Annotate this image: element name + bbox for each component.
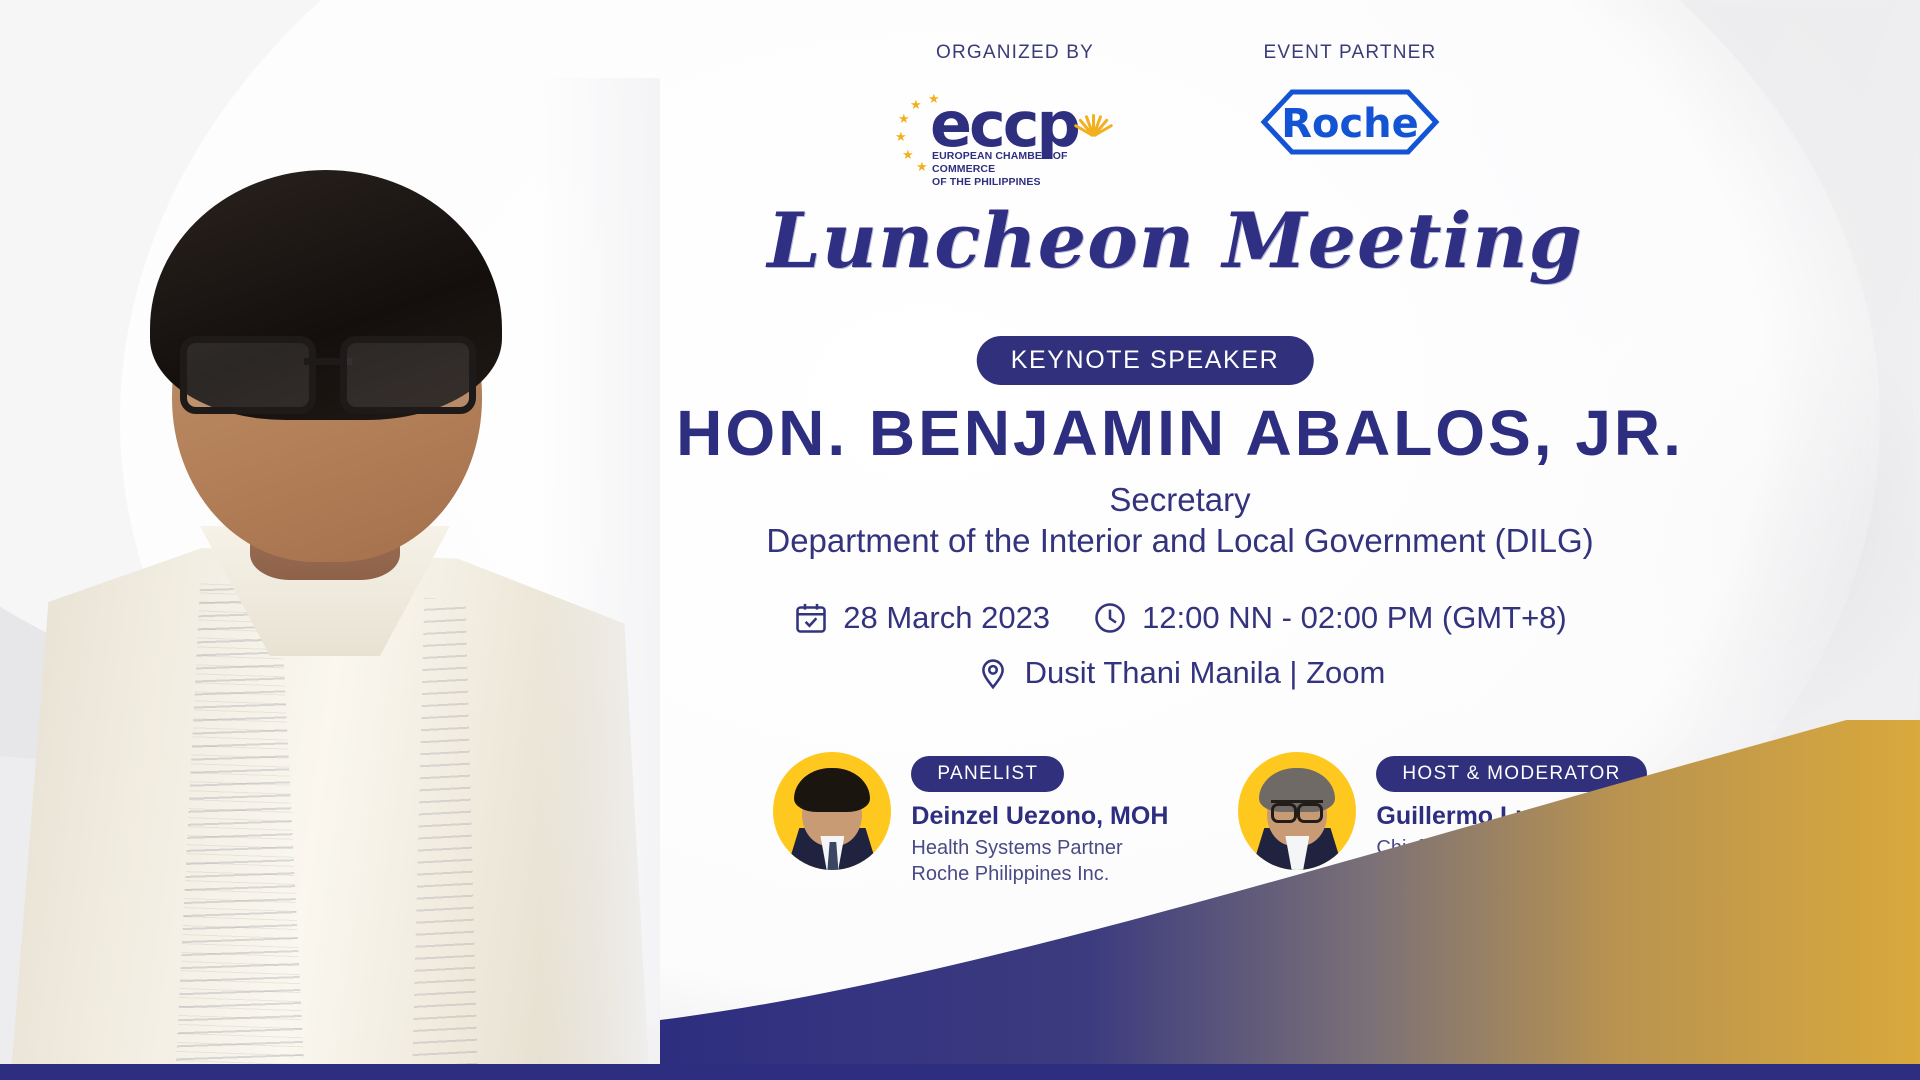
roche-wordmark: Roche — [1281, 101, 1419, 147]
eu-star: ★ — [902, 148, 914, 161]
eu-star: ★ — [898, 112, 910, 125]
eu-star: ★ — [916, 160, 928, 173]
eu-star: ★ — [910, 98, 922, 111]
lens-left — [180, 336, 316, 414]
sun-rays-icon — [1068, 88, 1120, 146]
person-description: Health Systems Partner Roche Philippines… — [911, 835, 1168, 887]
event-date: 28 March 2023 — [843, 600, 1050, 636]
date-item: 28 March 2023 — [793, 600, 1050, 636]
keynote-speaker-name: HON. BENJAMIN ABALOS, JR. — [460, 396, 1900, 470]
person-card: HOST & MODERATOR Guillermo Luz Chief Res… — [1238, 752, 1706, 913]
avatar — [1238, 752, 1356, 870]
person-name: Guillermo Luz — [1376, 802, 1706, 832]
organized-by-label: ORGANIZED BY — [900, 42, 1130, 64]
lens-right — [340, 336, 476, 414]
venue-item: Dusit Thani Manila | Zoom — [975, 655, 1386, 691]
eccp-tagline: EUROPEAN CHAMBER OF COMMERCE OF THE PHIL… — [932, 150, 1130, 188]
speakers-row: PANELIST Deinzel Uezono, MOH Health Syst… — [580, 752, 1900, 913]
keynote-speaker-role: Secretary — [460, 478, 1900, 522]
avatar-lens-right — [1297, 803, 1323, 823]
person-info: PANELIST Deinzel Uezono, MOH Health Syst… — [911, 752, 1168, 887]
calendar-check-icon — [793, 600, 829, 636]
person-role-badge: HOST & MODERATOR — [1376, 756, 1646, 792]
keynote-speaker-badge: KEYNOTE SPEAKER — [977, 336, 1314, 385]
keynote-speaker-photo — [0, 78, 660, 1080]
person-card: PANELIST Deinzel Uezono, MOH Health Syst… — [773, 752, 1168, 913]
partner-logo-row: ORGANIZED BY ★ ★ ★ ★ ★ ★ eccp — [660, 42, 1690, 178]
time-item: 12:00 NN - 02:00 PM (GMT+8) — [1092, 600, 1567, 636]
avatar-face — [1251, 766, 1343, 870]
roche-hexagon-icon: Roche — [1260, 86, 1440, 158]
venue-row: Dusit Thani Manila | Zoom — [460, 655, 1900, 691]
avatar — [773, 752, 891, 870]
person-name: Deinzel Uezono, MOH — [911, 802, 1168, 832]
person-description: Chief Resilience Officer, Philippine Dis… — [1376, 835, 1706, 913]
roche-logo: Roche — [1250, 86, 1450, 178]
eyeglasses-icon — [178, 336, 478, 402]
organizer-block: ORGANIZED BY ★ ★ ★ ★ ★ ★ eccp — [900, 42, 1130, 178]
photo-edge-fade — [540, 78, 660, 1080]
person-role-badge: PANELIST — [911, 756, 1064, 792]
avatar-hair — [794, 768, 870, 812]
page-title: Luncheon Meeting — [660, 196, 1690, 285]
location-pin-icon — [975, 655, 1011, 691]
avatar-lens-left — [1271, 803, 1297, 823]
eccp-logo: ★ ★ ★ ★ ★ ★ eccp — [900, 86, 1130, 178]
event-venue: Dusit Thani Manila | Zoom — [1025, 655, 1386, 691]
person-info: HOST & MODERATOR Guillermo Luz Chief Res… — [1376, 752, 1706, 913]
event-partner-block: EVENT PARTNER Roche — [1250, 42, 1450, 178]
avatar-glasses-icon — [1271, 800, 1323, 819]
avatar-face — [786, 766, 878, 870]
clock-icon — [1092, 600, 1128, 636]
keynote-speaker-organization: Department of the Interior and Local Gov… — [460, 522, 1900, 560]
event-poster: European Bu Community in Philippi ORGANI… — [0, 0, 1920, 1080]
eu-star: ★ — [895, 130, 907, 143]
event-time: 12:00 NN - 02:00 PM (GMT+8) — [1142, 600, 1567, 636]
date-time-row: 28 March 2023 12:00 NN - 02:00 PM (GMT+8… — [460, 600, 1900, 636]
poster-content: ORGANIZED BY ★ ★ ★ ★ ★ ★ eccp — [660, 0, 1920, 1080]
event-partner-label: EVENT PARTNER — [1250, 42, 1450, 64]
